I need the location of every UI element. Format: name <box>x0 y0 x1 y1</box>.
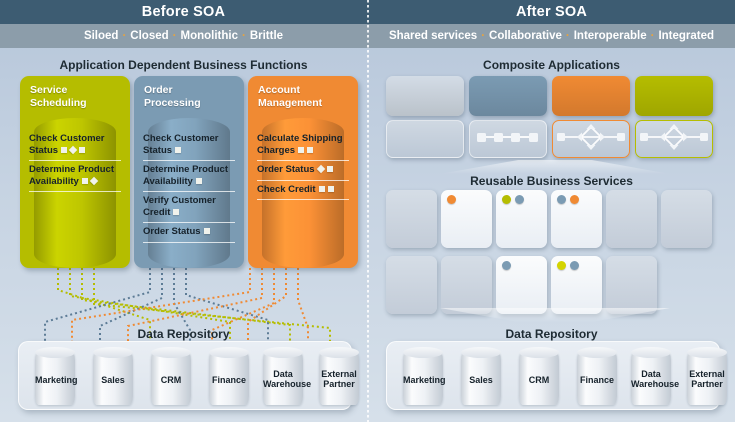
reusable-service-card[interactable] <box>551 256 602 314</box>
consumer-dot-icon <box>570 195 579 204</box>
before-tag-2: Monolithic <box>180 30 238 42</box>
cylinder-top <box>35 347 75 358</box>
silo-task-label: Check Credit <box>257 184 316 195</box>
tag-separator: · <box>118 30 130 42</box>
cylinder-top <box>519 347 559 358</box>
silo-task-list: Check Customer StatusDetermine Product A… <box>29 130 121 192</box>
silo-task-label: Determine Product Availability <box>29 164 114 187</box>
service-consumer-dots <box>557 195 579 204</box>
task-divider <box>29 191 121 192</box>
database-label: DataWarehouse <box>263 369 303 389</box>
database-label: DataWarehouse <box>631 369 671 389</box>
cylinder-top <box>577 347 617 358</box>
left-section-title: Application Dependent Business Functions <box>0 58 367 72</box>
silo-task[interactable]: Order Status <box>257 161 349 179</box>
funnel-top <box>440 160 670 174</box>
process-branch-icon <box>555 122 627 157</box>
square-marker-icon <box>61 147 67 153</box>
silo-1[interactable]: OrderProcessingCheck Customer StatusDete… <box>134 76 244 268</box>
after-tag-2: Interoperable <box>574 30 647 42</box>
cylinder-top <box>209 347 249 358</box>
silo-task[interactable]: Check Customer Status <box>29 130 121 159</box>
right-composite-title: Composite Applications <box>368 58 735 72</box>
silo-task[interactable]: Order Status <box>143 223 235 241</box>
silo-task-list: Calculate Shipping ChargesOrder StatusCh… <box>257 130 349 200</box>
consumer-dot-icon <box>570 261 579 270</box>
square-marker-icon <box>327 166 333 172</box>
silo-name: AccountManagement <box>258 84 350 109</box>
cylinder-top <box>263 347 303 358</box>
silo-task[interactable]: Check Customer Status <box>143 130 235 159</box>
before-tag-3: Brittle <box>250 30 283 42</box>
consumer-dot-icon <box>557 261 566 270</box>
database-cylinder[interactable]: CRM <box>519 347 559 405</box>
diagram-root: Before SOA After SOA Siloed·Closed·Monol… <box>0 0 735 422</box>
square-marker-icon <box>196 178 202 184</box>
silo-task[interactable]: Check Credit <box>257 181 349 199</box>
consumer-dot-icon <box>447 195 456 204</box>
diamond-marker-icon <box>69 146 77 154</box>
reusable-service-card[interactable] <box>606 256 657 314</box>
service-consumer-dots <box>557 261 579 270</box>
database-label: Marketing <box>35 375 75 385</box>
silo-task-list: Check Customer StatusDetermine Product A… <box>143 130 235 243</box>
square-marker-icon <box>319 186 325 192</box>
composite-card-1[interactable] <box>469 76 547 116</box>
database-cylinder[interactable]: ExternalPartner <box>319 347 359 405</box>
service-consumer-dots <box>447 195 456 204</box>
database-label: ExternalPartner <box>319 369 359 389</box>
silo-task-label: Order Status <box>143 226 201 237</box>
database-cylinder[interactable]: Marketing <box>403 347 443 405</box>
process-chain-icon <box>475 129 541 150</box>
square-marker-icon <box>328 186 334 192</box>
silo-name: ServiceScheduling <box>30 84 122 109</box>
process-branch-icon <box>638 122 710 157</box>
square-marker-icon <box>79 147 85 153</box>
database-label: ExternalPartner <box>687 369 727 389</box>
composite-card-0[interactable] <box>386 76 464 116</box>
diamond-marker-icon <box>90 177 98 185</box>
silo-2[interactable]: AccountManagementCalculate Shipping Char… <box>248 76 358 268</box>
right-repository-title: Data Repository <box>368 327 735 341</box>
tag-separator: · <box>647 30 659 42</box>
square-marker-icon <box>204 228 210 234</box>
service-consumer-dots <box>502 261 511 270</box>
database-label: Marketing <box>403 375 443 385</box>
database-cylinder[interactable]: Finance <box>209 347 249 405</box>
process-card-2[interactable] <box>552 120 630 158</box>
square-marker-icon <box>82 178 88 184</box>
silo-task-label: Order Status <box>257 164 315 175</box>
square-marker-icon <box>307 147 313 153</box>
after-soa-title: After SOA <box>368 0 735 24</box>
silo-task[interactable]: Determine Product Availability <box>29 161 121 190</box>
reusable-service-card[interactable] <box>661 190 712 248</box>
reusable-service-card[interactable] <box>496 190 547 248</box>
cylinder-top <box>319 347 359 358</box>
reusable-service-card[interactable] <box>441 190 492 248</box>
silo-task[interactable]: Determine Product Availability <box>143 161 235 190</box>
process-card-1[interactable] <box>469 120 547 158</box>
after-tag-3: Integrated <box>658 30 714 42</box>
diamond-marker-icon <box>316 165 324 173</box>
database-label: Sales <box>93 375 133 385</box>
silo-task[interactable]: Verify Customer Credit <box>143 192 235 221</box>
square-marker-icon <box>175 147 181 153</box>
process-card-3[interactable] <box>635 120 713 158</box>
database-label: Finance <box>209 375 249 385</box>
database-label: CRM <box>519 375 559 385</box>
square-marker-icon <box>298 147 304 153</box>
tag-separator: · <box>169 30 181 42</box>
right-data-repository: MarketingSalesCRMFinanceDataWarehouseExt… <box>386 341 720 410</box>
database-cylinder[interactable]: DataWarehouse <box>631 347 671 405</box>
reusable-service-card[interactable] <box>441 256 492 314</box>
database-cylinder[interactable]: Sales <box>93 347 133 405</box>
silo-0[interactable]: ServiceSchedulingCheck Customer StatusDe… <box>20 76 130 268</box>
left-repository-title: Data Repository <box>0 327 367 341</box>
database-label: Finance <box>577 375 617 385</box>
database-cylinder[interactable]: Marketing <box>35 347 75 405</box>
task-divider <box>257 199 349 200</box>
funnel-bottom <box>440 308 670 322</box>
database-cylinder[interactable]: CRM <box>151 347 191 405</box>
after-soa-tags: Shared services·Collaborative·Interopera… <box>368 24 735 48</box>
before-tag-0: Siloed <box>84 30 119 42</box>
consumer-dot-icon <box>557 195 566 204</box>
cylinder-top <box>461 347 501 358</box>
consumer-dot-icon <box>515 195 524 204</box>
right-services-title: Reusable Business Services <box>368 174 735 188</box>
cylinder-top <box>93 347 133 358</box>
composite-card-3[interactable] <box>635 76 713 116</box>
database-label: CRM <box>151 375 191 385</box>
silo-task[interactable]: Calculate Shipping Charges <box>257 130 349 159</box>
consumer-dot-icon <box>502 261 511 270</box>
service-consumer-dots <box>502 195 524 204</box>
database-cylinder[interactable]: Sales <box>461 347 501 405</box>
tag-separator: · <box>562 30 574 42</box>
reusable-service-card[interactable] <box>606 190 657 248</box>
silo-name: OrderProcessing <box>144 84 236 109</box>
reusable-service-card[interactable] <box>386 256 437 314</box>
cylinder-top <box>151 347 191 358</box>
before-soa-tags: Siloed·Closed·Monolithic·Brittle <box>0 24 367 48</box>
database-cylinder[interactable]: Finance <box>577 347 617 405</box>
tag-separator: · <box>477 30 489 42</box>
task-divider <box>143 242 235 243</box>
before-tag-1: Closed <box>130 30 168 42</box>
reusable-service-card[interactable] <box>386 190 437 248</box>
silo-task-label: Determine Product Availability <box>143 164 228 187</box>
database-label: Sales <box>461 375 501 385</box>
reusable-service-card[interactable] <box>551 190 602 248</box>
before-soa-title: Before SOA <box>0 0 367 24</box>
cylinder-top <box>631 347 671 358</box>
database-cylinder[interactable]: ExternalPartner <box>687 347 727 405</box>
cylinder-top <box>687 347 727 358</box>
cylinder-top <box>403 347 443 358</box>
reusable-service-card[interactable] <box>496 256 547 314</box>
after-tag-0: Shared services <box>389 30 477 42</box>
tag-separator: · <box>238 30 250 42</box>
database-cylinder[interactable]: DataWarehouse <box>263 347 303 405</box>
square-marker-icon <box>173 209 179 215</box>
composite-card-2[interactable] <box>552 76 630 116</box>
consumer-dot-icon <box>502 195 511 204</box>
left-data-repository: MarketingSalesCRMFinanceDataWarehouseExt… <box>18 341 352 410</box>
after-tag-1: Collaborative <box>489 30 562 42</box>
process-card-0[interactable] <box>386 120 464 158</box>
